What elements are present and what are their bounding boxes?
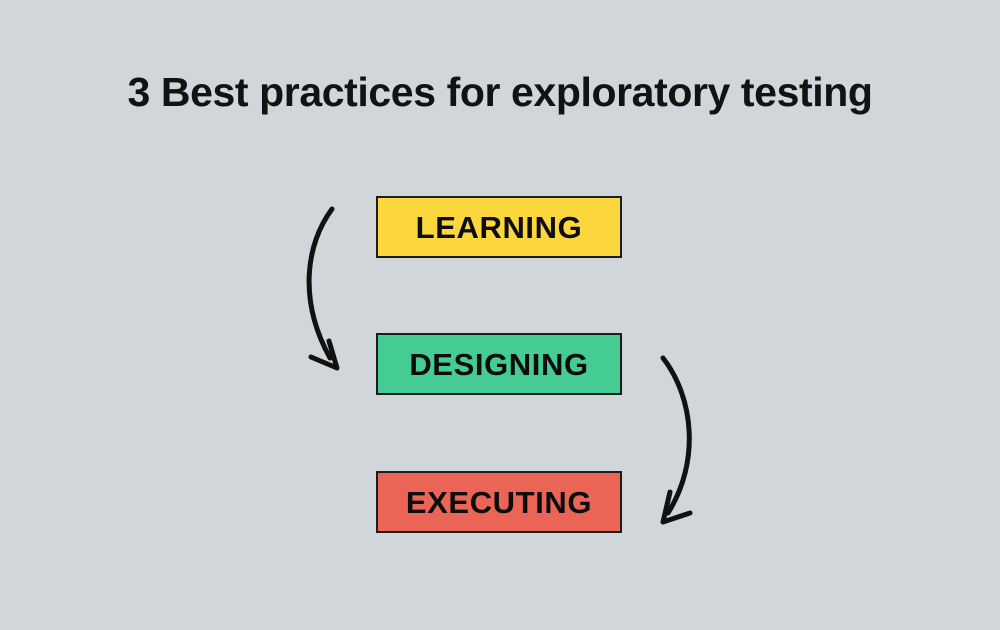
arrow-learning-to-designing-head <box>311 341 337 368</box>
arrow-designing-to-executing <box>663 358 690 522</box>
stage-label-designing: DESIGNING <box>409 349 588 380</box>
stage-label-executing: EXECUTING <box>406 487 592 518</box>
arrow-learning-to-designing <box>309 209 337 368</box>
arrow-learning-to-designing-path <box>309 209 332 358</box>
stage-box-learning[interactable]: LEARNING <box>376 196 622 258</box>
arrow-designing-to-executing-path <box>663 358 689 513</box>
stage-box-executing[interactable]: EXECUTING <box>376 471 622 533</box>
page-title: 3 Best practices for exploratory testing <box>0 68 1000 116</box>
slide-canvas: 3 Best practices for exploratory testing… <box>0 0 1000 630</box>
stage-label-learning: LEARNING <box>416 212 583 243</box>
arrow-designing-to-executing-head <box>663 492 690 522</box>
stage-box-designing[interactable]: DESIGNING <box>376 333 622 395</box>
